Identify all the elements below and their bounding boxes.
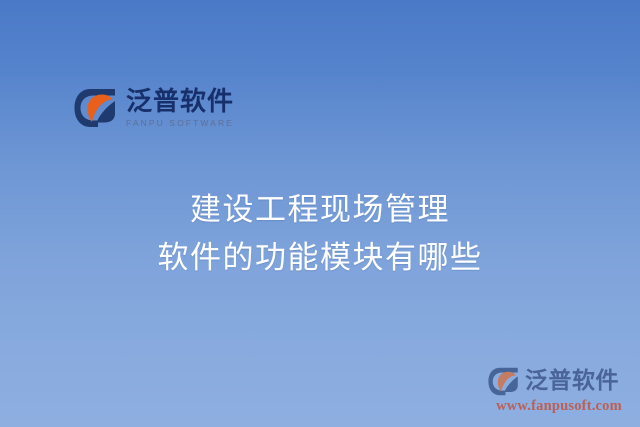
brand-name-cn: 泛普软件 <box>126 88 234 116</box>
brand-logo[interactable]: 泛普软件 FANPU SOFTWARE <box>74 88 234 128</box>
slide-canvas: 泛普软件 FANPU SOFTWARE 建设工程现场管理 软件的功能模块有哪些 … <box>0 0 640 427</box>
page-title-line-2: 软件的功能模块有哪些 <box>0 234 640 282</box>
page-title: 建设工程现场管理 软件的功能模块有哪些 <box>0 186 640 282</box>
watermark: 泛普软件 www.fanpusoft.com <box>488 367 630 415</box>
watermark-name-cn: 泛普软件 <box>525 370 619 393</box>
page-title-line-1: 建设工程现场管理 <box>0 186 640 234</box>
watermark-url: www.fanpusoft.com <box>488 398 630 415</box>
watermark-logo: 泛普软件 <box>488 367 630 396</box>
brand-name-en: FANPU SOFTWARE <box>126 119 234 128</box>
brand-wordmark: 泛普软件 FANPU SOFTWARE <box>126 88 234 128</box>
fanpu-watermark-icon <box>488 367 520 396</box>
fanpu-logo-icon <box>74 88 118 128</box>
